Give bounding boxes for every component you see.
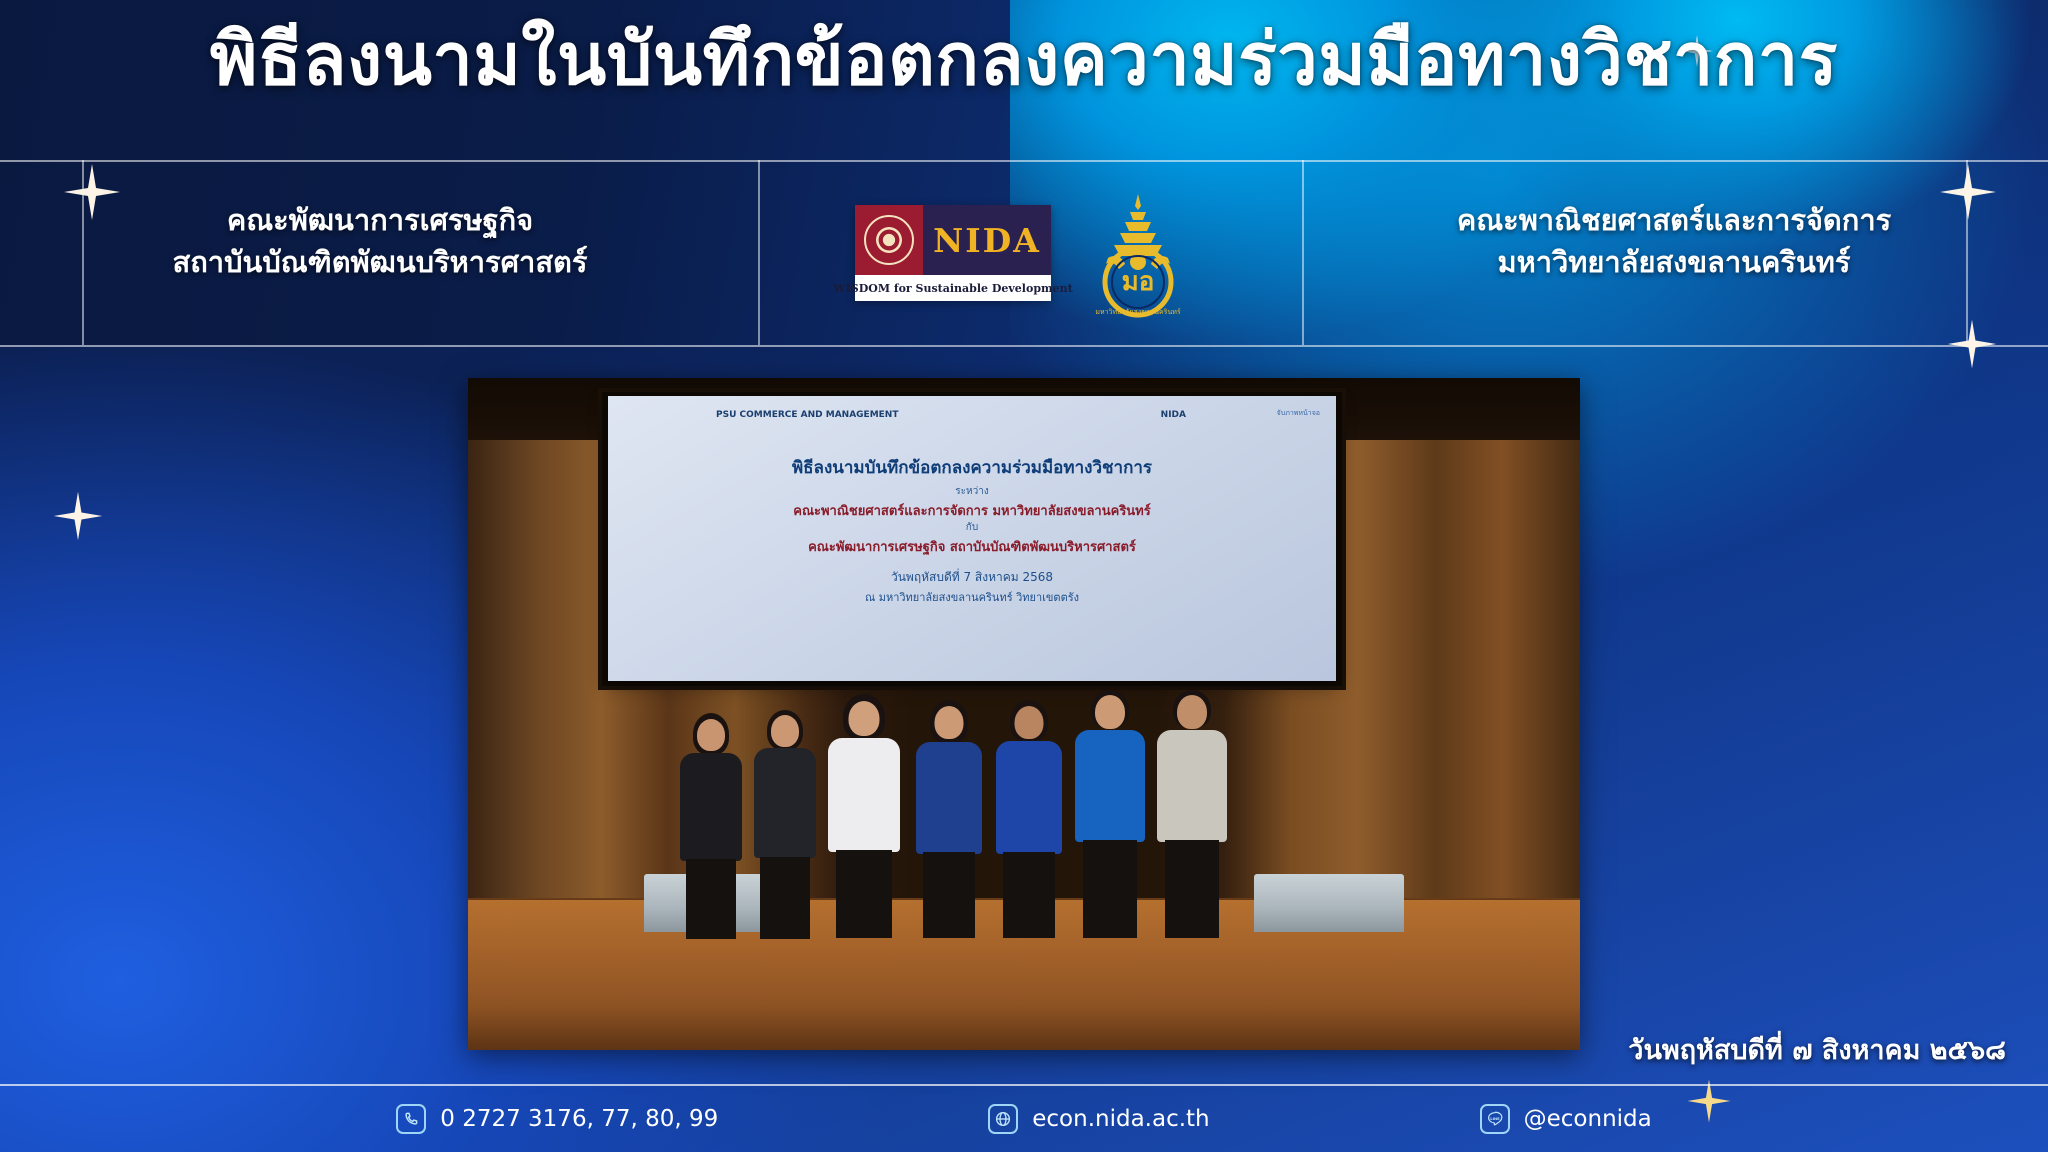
psu-emblem-icon: มอ มหาวิทยาลัยสงขลานครินทร์	[1078, 190, 1198, 320]
org-left-line2: สถาบันบัณฑิตพัฒนบริหารศาสตร์	[0, 241, 760, 283]
nida-wordmark: NIDA	[933, 221, 1041, 260]
slide-between-label: ระหว่าง	[608, 484, 1336, 499]
org-left-line1: คณะพัฒนาการเศรษฐกิจ	[0, 199, 760, 241]
slide-org-2: คณะพัฒนาการเศรษฐกิจ สถาบันบัณฑิตพัฒนบริห…	[608, 536, 1336, 557]
date-caption: วันพฤหัสบดีที่ ๗ สิงหาคม ๒๕๖๘	[1628, 1028, 2006, 1071]
svg-text:มอ: มอ	[1122, 267, 1155, 297]
person	[992, 700, 1066, 938]
footer-contact-bar: 0 2727 3176, 77, 80, 99 econ.nida.ac.th …	[0, 1086, 2048, 1152]
page-title: พิธีลงนามในบันทึกข้อตกลงความร่วมมือทางวิ…	[0, 18, 2048, 101]
nida-tagline: WISDOM for Sustainable Development	[833, 282, 1072, 295]
footer-phone[interactable]: 0 2727 3176, 77, 80, 99	[396, 1104, 718, 1134]
slide-logo-right: NIDA	[1161, 410, 1186, 420]
org-right-block: คณะพาณิชยศาสตร์และการจัดการ มหาวิทยาลัยส…	[1300, 199, 2048, 283]
footer-line-account[interactable]: LINE @econnida	[1480, 1104, 1652, 1134]
frame-line-mid	[0, 345, 2048, 347]
slide-logo-left: PSU COMMERCE AND MANAGEMENT	[716, 410, 898, 421]
line-chat-icon: LINE	[1480, 1104, 1510, 1134]
footer-line-text: @econnida	[1524, 1106, 1652, 1132]
phone-icon	[396, 1104, 426, 1134]
footer-website-text: econ.nida.ac.th	[1032, 1106, 1209, 1132]
projector-screen: PSU COMMERCE AND MANAGEMENT NIDA จับภาพห…	[608, 396, 1336, 681]
stage-table	[1254, 874, 1404, 932]
footer-website[interactable]: econ.nida.ac.th	[988, 1104, 1209, 1134]
person	[750, 710, 820, 938]
person	[1072, 690, 1148, 938]
org-right-line1: คณะพาณิชยศาสตร์และการจัดการ	[1300, 199, 2048, 241]
footer-phone-text: 0 2727 3176, 77, 80, 99	[440, 1106, 718, 1132]
slide-with-label: กับ	[608, 520, 1336, 535]
slide-org-1: คณะพาณิชยศาสตร์และการจัดการ มหาวิทยาลัยส…	[608, 500, 1336, 521]
slide-date: วันพฤหัสบดีที่ 7 สิงหาคม 2568	[608, 568, 1336, 587]
globe-icon	[988, 1104, 1018, 1134]
person	[676, 713, 746, 938]
svg-text:LINE: LINE	[1490, 1117, 1500, 1121]
svg-text:มหาวิทยาลัยสงขลานครินทร์: มหาวิทยาลัยสงขลานครินทร์	[1095, 308, 1180, 316]
nida-seal-icon	[855, 205, 923, 275]
org-right-line2: มหาวิทยาลัยสงขลานครินทร์	[1300, 241, 2048, 283]
ceremony-photo: PSU COMMERCE AND MANAGEMENT NIDA จับภาพห…	[468, 378, 1580, 1050]
slide-venue: ณ มหาวิทยาลัยสงขลานครินทร์ วิทยาเขตตรัง	[608, 588, 1336, 606]
nida-logo: NIDA WISDOM for Sustainable Development	[855, 205, 1051, 301]
slide-heading: พิธีลงนามบันทึกข้อตกลงความร่วมมือทางวิชา…	[608, 454, 1336, 481]
org-left-block: คณะพัฒนาการเศรษฐกิจ สถาบันบัณฑิตพัฒนบริห…	[0, 199, 760, 283]
person	[912, 700, 986, 938]
person	[824, 694, 904, 938]
slide-corner-tag: จับภาพหน้าจอ	[1277, 408, 1320, 419]
frame-line-top	[0, 160, 2048, 162]
person	[1154, 690, 1230, 938]
